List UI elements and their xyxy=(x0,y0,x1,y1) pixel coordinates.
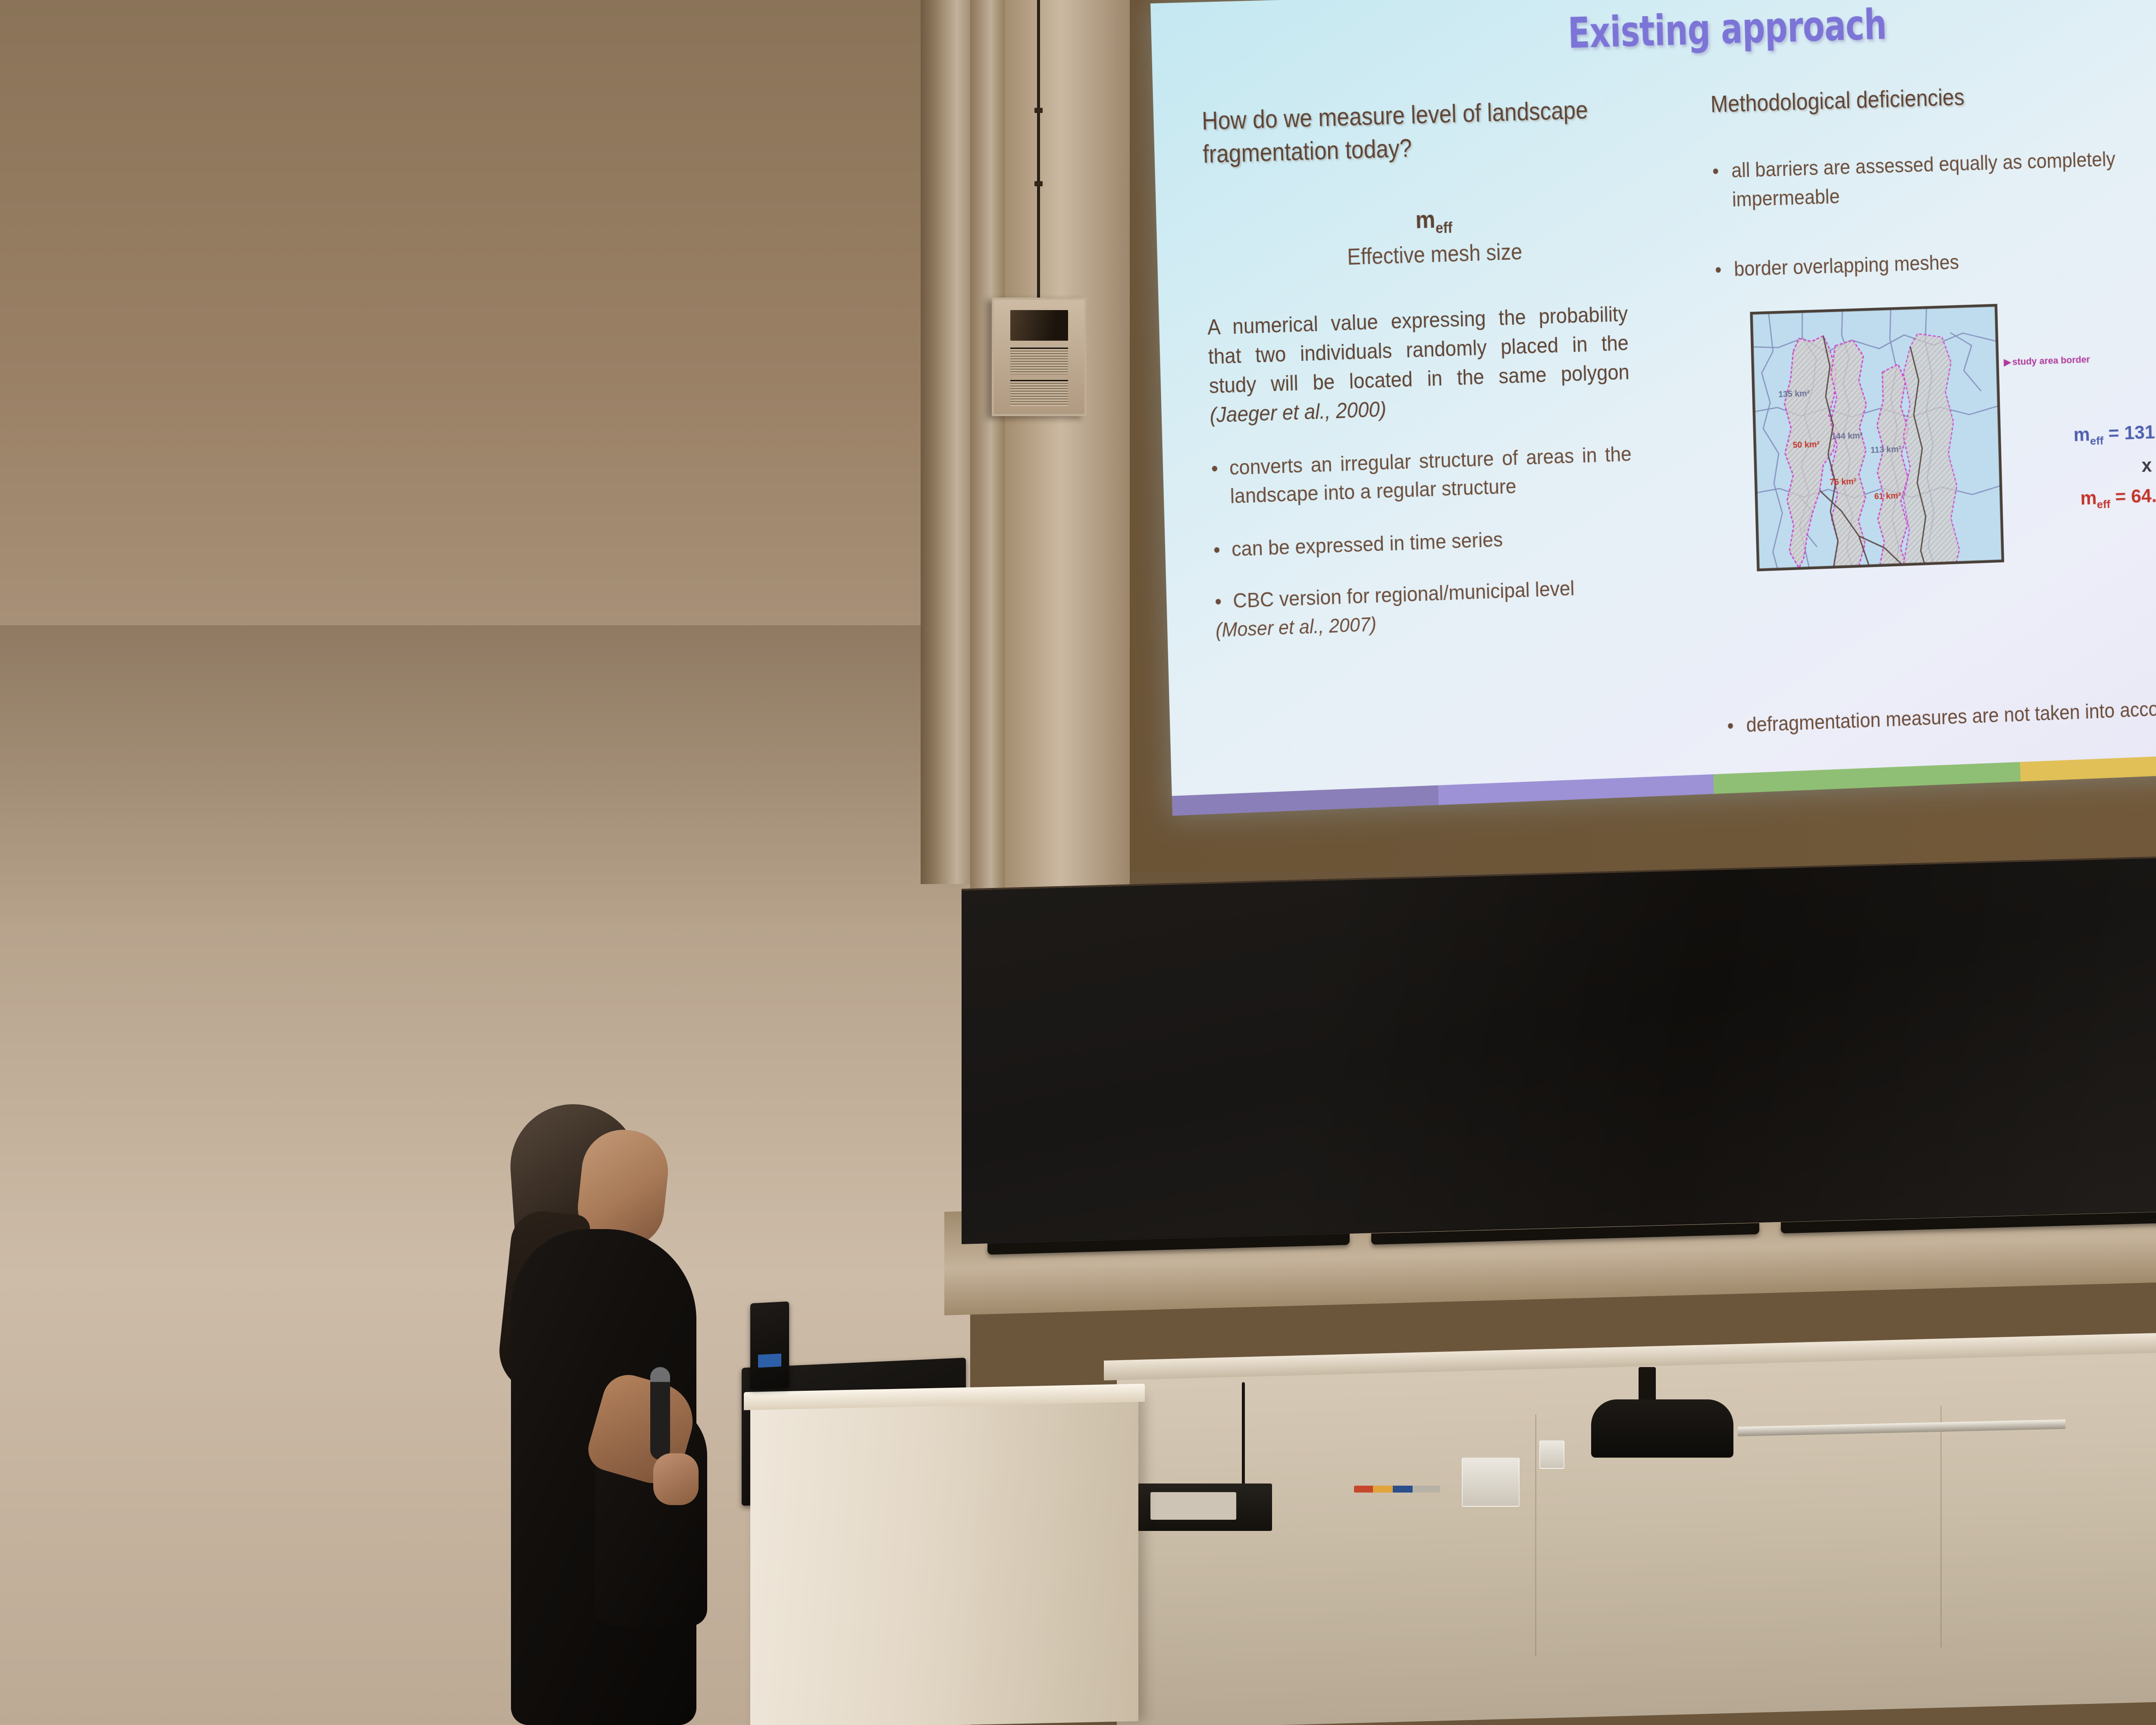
slide-definition-paragraph: A numerical value expressing the probabi… xyxy=(1207,299,1630,430)
meff-value-top: meff = 131.96 km² xyxy=(2029,418,2156,450)
bullet-dot-icon: • xyxy=(1712,157,1733,215)
metric-symbol-subscript: eff xyxy=(1435,219,1453,237)
left-bullet-2-text: can be expressed in time series xyxy=(1231,521,1634,564)
marker-pens[interactable] xyxy=(1354,1486,1440,1493)
left-bullet-2: • can be expressed in time series xyxy=(1213,521,1634,565)
colorbar-segment-4 xyxy=(2020,750,2156,781)
lectern xyxy=(750,1393,1138,1725)
presenter xyxy=(487,1104,729,1725)
bullet-dot-icon: • xyxy=(1211,454,1231,511)
meff-top-symbol: m xyxy=(2073,424,2090,445)
slide-question-heading: How do we measure level of landscape fra… xyxy=(1201,93,1605,171)
blackboard-sheen xyxy=(962,847,2156,1244)
camera xyxy=(1591,1399,1733,1458)
map-label-61: 61 km² xyxy=(1874,491,1901,502)
ceiling-speaker-left xyxy=(992,298,1087,416)
study-area-border-annotation: ▶study area border xyxy=(2004,354,2090,368)
left-bullet-1: • converts an irregular structure of are… xyxy=(1211,440,1633,511)
speaker-grill-upper xyxy=(1010,348,1068,374)
lecture-hall-photo: Existing approach How do we measure leve… xyxy=(0,0,2156,1725)
meff-top-value: = 131.96 km² xyxy=(2103,420,2156,444)
slide-right-column: Methodological deficiencies • all barrie… xyxy=(1710,75,2156,285)
bullet-dot-icon: • xyxy=(1714,255,1734,285)
right-bullet-2: • border overlapping meshes xyxy=(1714,241,2156,285)
bullet-dot-icon: • xyxy=(1727,711,1747,741)
meff-bottom-value: = 64.15 km² xyxy=(2110,483,2156,508)
meff-top-sub: eff xyxy=(2090,434,2104,448)
right-bullet-1-text: all barriers are assessed equally as com… xyxy=(1731,143,2156,214)
right-bullet-2-text: border overlapping meshes xyxy=(1734,248,1960,284)
right-bullet-1: • all barriers are assessed equally as c… xyxy=(1712,143,2156,215)
right-bullet-3-text: defragmentation measures are not taken i… xyxy=(1746,694,2156,740)
speaker-cord-left xyxy=(1037,0,1040,298)
study-area-map xyxy=(1750,304,2004,571)
slide-right-heading: Methodological deficiencies xyxy=(1710,76,2156,118)
definition-text: A numerical value expressing the probabi… xyxy=(1207,302,1630,398)
left-wall-shadow xyxy=(0,625,970,927)
map-label-76: 76 km² xyxy=(1830,477,1856,488)
speaker-grill-lower xyxy=(1010,380,1068,406)
right-bullet-3: • defragmentation measures are not taken… xyxy=(1727,692,2156,740)
slide-title: Existing approach xyxy=(1232,0,2156,68)
map-label-144: 144 km² xyxy=(1831,431,1863,442)
bullet-dot-icon: • xyxy=(1213,536,1232,565)
front-desk xyxy=(1117,1333,2156,1725)
metric-block: meff Effective mesh size xyxy=(1204,198,1663,275)
meff-bottom-symbol: m xyxy=(2080,487,2097,509)
wireless-mic-receiver[interactable] xyxy=(1134,1483,1272,1531)
speaker-aperture xyxy=(1010,310,1068,341)
wall-niche-left xyxy=(1005,0,1130,888)
water-glass xyxy=(1539,1440,1564,1469)
slide-left-column: How do we measure level of landscape fra… xyxy=(1201,91,1672,641)
lenovo-logo xyxy=(758,1354,781,1368)
arrow-right-icon: ▶ xyxy=(2004,357,2011,368)
mic-receiver-antenna xyxy=(1242,1382,1245,1490)
metric-name: Effective mesh size xyxy=(1228,235,1640,274)
projection-screen: Existing approach How do we measure leve… xyxy=(1150,0,2156,816)
metric-symbol-base: m xyxy=(1415,205,1436,234)
desk-panel-seam xyxy=(1940,1406,1942,1647)
study-area-border-label: study area border xyxy=(2012,354,2090,367)
map-label-135: 135 km² xyxy=(1778,389,1810,400)
definition-citation: (Jaeger et al., 2000) xyxy=(1210,397,1387,427)
receiver-faceplate xyxy=(1150,1492,1236,1520)
meff-bottom-sub: eff xyxy=(2096,498,2110,511)
blackboard xyxy=(962,847,2156,1244)
pen-holder[interactable] xyxy=(1462,1458,1520,1507)
map-label-113: 113 km² xyxy=(1871,445,1902,455)
left-bullet-1-text: converts an irregular structure of areas… xyxy=(1229,440,1633,511)
bullet-dot-icon: • xyxy=(1214,587,1233,616)
meff-comparison-block: meff = 131.96 km² x meff = 64.15 km² xyxy=(2029,418,2156,513)
map-label-50: 50 km² xyxy=(1792,440,1820,451)
wall-pillar-left xyxy=(921,0,972,884)
desk-panel-seam xyxy=(1535,1414,1536,1656)
handheld-microphone[interactable] xyxy=(650,1367,670,1460)
meff-value-bottom: meff = 64.15 km² xyxy=(2031,481,2156,513)
desk-laptop-lid[interactable] xyxy=(750,1302,789,1390)
map-graphic xyxy=(1752,306,2002,570)
metric-symbol: meff xyxy=(1415,204,1453,238)
wall-pillar-left-inner xyxy=(970,0,1005,906)
presenter-hand xyxy=(653,1453,699,1505)
meff-separator: x xyxy=(2030,451,2156,480)
